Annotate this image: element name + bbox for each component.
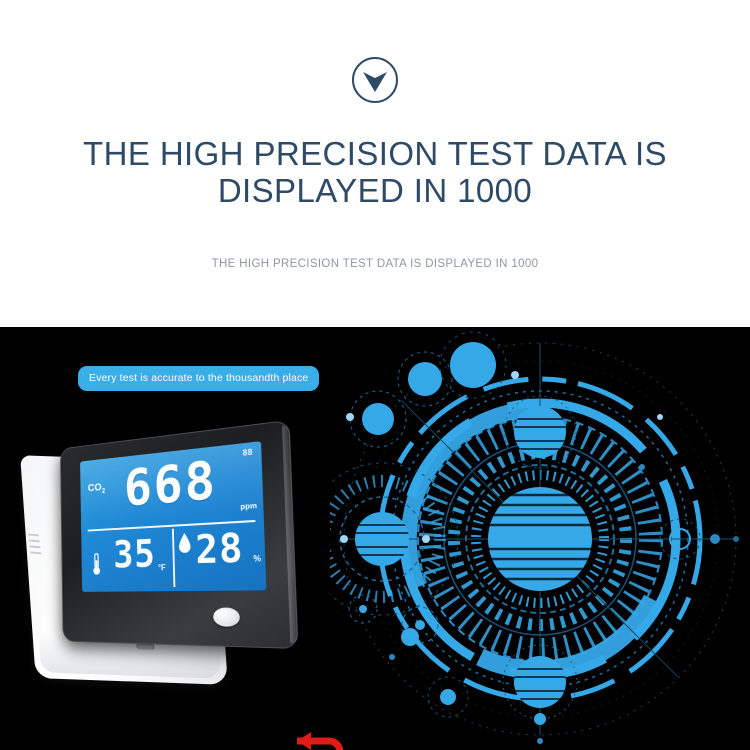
lcd-temperature-value: 35 (113, 534, 156, 575)
lcd-humidity-unit: % (253, 554, 261, 564)
co2-air-quality-monitor: CO2 88 668 ppm 35 °F (3, 411, 318, 709)
page-subtitle: THE HIGH PRECISION TEST DATA IS DISPLAYE… (0, 258, 750, 270)
lcd-co2-unit: ppm (240, 501, 257, 512)
lcd-humidity-value: 28 (195, 527, 244, 570)
page-title-line-1: THE HIGH PRECISION TEST DATA IS (83, 135, 667, 172)
lcd-status-indicator: 88 (243, 447, 254, 457)
water-drop-icon (178, 532, 192, 555)
lcd-co2-label-text: CO (88, 482, 102, 494)
lcd-divider-vertical (172, 529, 175, 587)
lcd-display: CO2 88 668 ppm 35 °F (80, 441, 266, 592)
device-power-button[interactable] (213, 608, 240, 627)
thermometer-icon (91, 552, 101, 577)
device-front-bezel: CO2 88 668 ppm 35 °F (60, 420, 298, 649)
u-turn-arrow-left-icon (295, 727, 349, 750)
page-title: THE HIGH PRECISION TEST DATA IS DISPLAYE… (0, 135, 750, 209)
lcd-co2-label-sub: 2 (102, 488, 106, 495)
page-root: THE HIGH PRECISION TEST DATA IS DISPLAYE… (0, 0, 750, 750)
page-title-line-2: DISPLAYED IN 1000 (0, 172, 750, 209)
product-showcase-section: CO2 88 668 ppm 35 °F (0, 327, 750, 750)
chevron-down-circle-icon (351, 56, 399, 104)
lcd-co2-label: CO2 (88, 481, 106, 496)
hero-section: THE HIGH PRECISION TEST DATA IS DISPLAYE… (0, 0, 750, 327)
tech-circular-hud-graphic (330, 327, 750, 750)
accuracy-callout-label: Every test is accurate to the thousandth… (78, 366, 319, 391)
lcd-co2-value: 668 (124, 454, 218, 514)
lcd-temperature-unit: °F (158, 563, 166, 572)
